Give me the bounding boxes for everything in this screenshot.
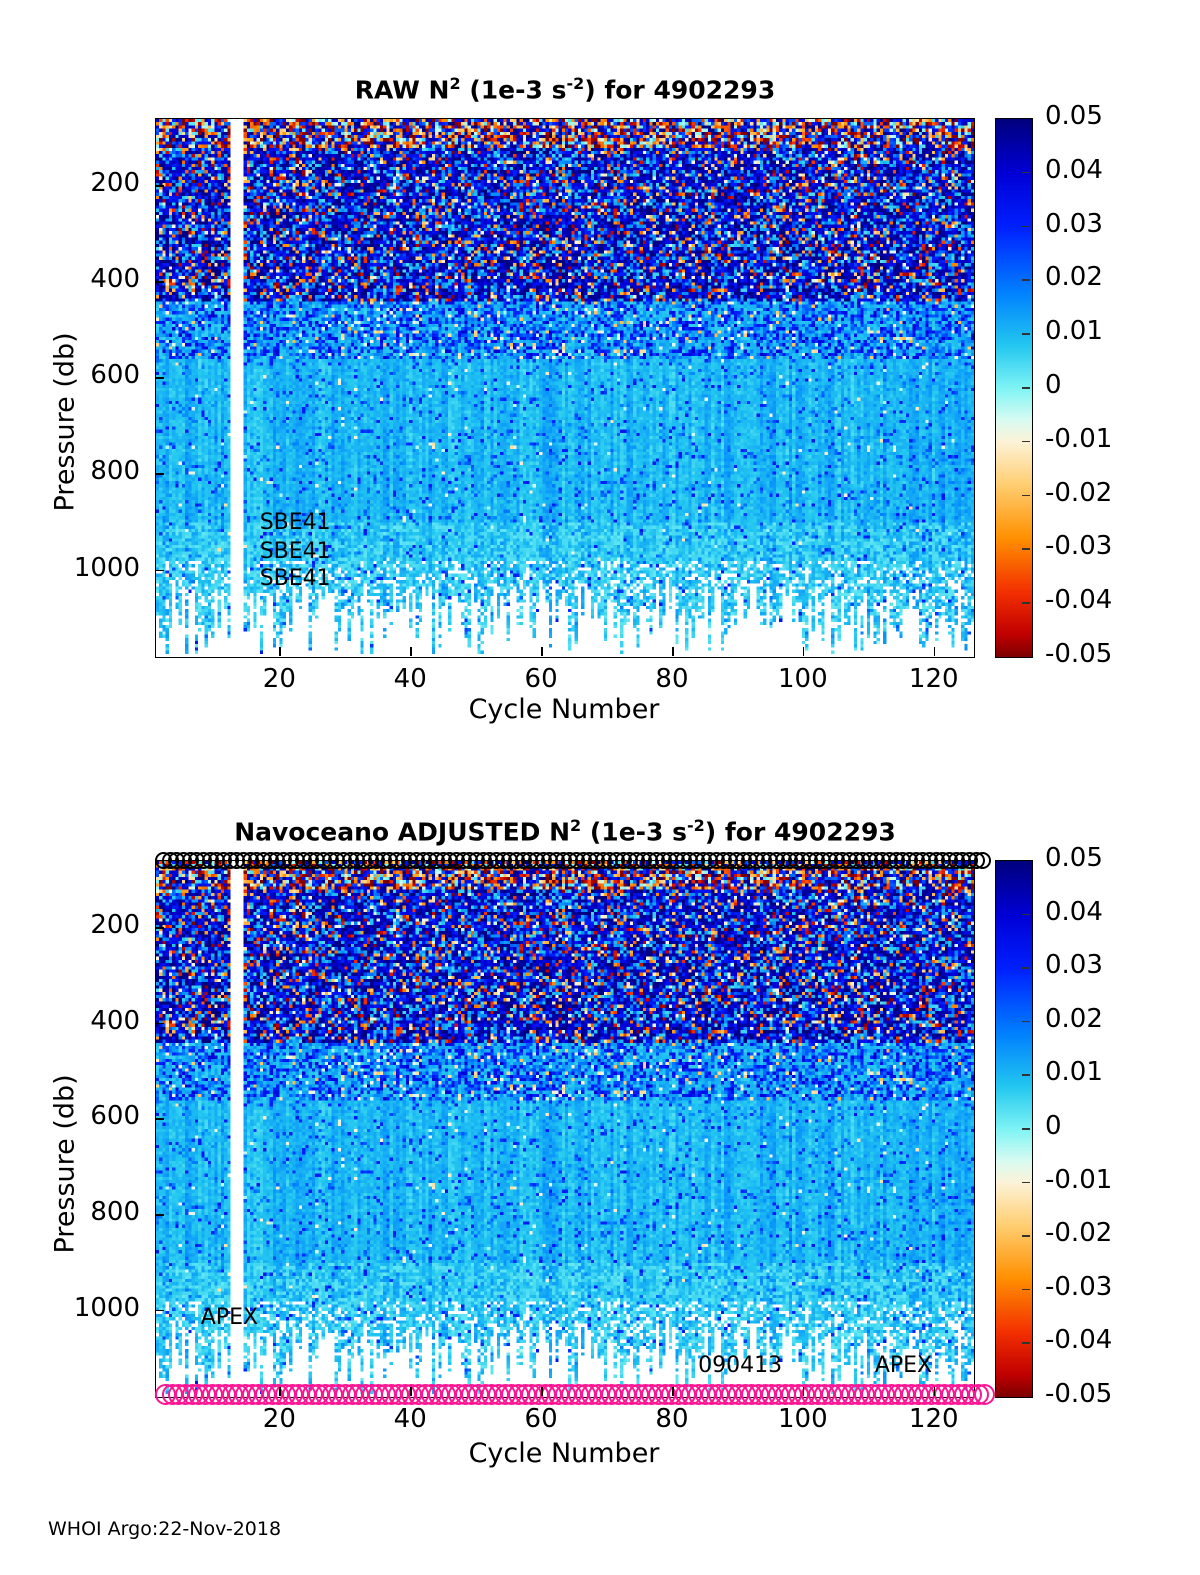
colorbar-tick-mark [1022, 1128, 1030, 1130]
colorbar-tick-label: 0.05 [1045, 101, 1103, 131]
y-tick-label: 800 [20, 456, 140, 486]
plot-annotation: SBE41 [260, 510, 331, 535]
cycle-marker [974, 1384, 995, 1405]
title-suffix-adj: ) for 4902293 [705, 817, 896, 846]
colorbar-tick-mark [1022, 1342, 1030, 1344]
x-tick-mark [934, 1387, 936, 1396]
panel-raw-title: RAW N2 (1e-3 s-2) for 4902293 [155, 74, 975, 104]
x-tick-mark [803, 1387, 805, 1396]
x-tick-label: 100 [753, 664, 853, 694]
colorbar-tick-mark [1022, 602, 1030, 604]
plot-annotation: APEX [201, 1305, 258, 1330]
colorbar-tick-mark [1022, 279, 1030, 281]
colorbar-tick-mark [1022, 914, 1030, 916]
x-tick-mark [934, 647, 936, 656]
colorbar-tick-mark [1022, 548, 1030, 550]
heatmap-image-adjusted [156, 861, 974, 1397]
x-axis-label-raw: Cycle Number [155, 694, 973, 725]
x-axis-label-adjusted: Cycle Number [155, 1438, 973, 1469]
colorbar-tick-mark [1022, 226, 1030, 228]
y-tick-label: 1000 [20, 1293, 140, 1323]
colorbar-tick-label: 0 [1045, 1111, 1062, 1141]
x-tick-mark [672, 1387, 674, 1396]
title-sup2-adj: -2 [687, 816, 705, 835]
y-tick-label: 400 [20, 1006, 140, 1036]
colorbar-tick-mark [1022, 1021, 1030, 1023]
x-tick-label: 120 [884, 664, 984, 694]
colorbar-tick-label: -0.03 [1045, 531, 1112, 561]
colorbar-tick-label: -0.04 [1045, 585, 1112, 615]
x-tick-mark [410, 647, 412, 656]
colorbar-tick-label: -0.04 [1045, 1325, 1112, 1355]
colorbar-tick-label: 0 [1045, 370, 1062, 400]
colorbar-tick-label: -0.03 [1045, 1272, 1112, 1302]
colorbar-tick-label: 0.03 [1045, 950, 1103, 980]
figure-footer: WHOI Argo:22-Nov-2018 [48, 1518, 281, 1540]
colorbar-tick-label: 0.01 [1045, 316, 1103, 346]
x-tick-mark [541, 647, 543, 656]
x-tick-label: 60 [491, 664, 591, 694]
colorbar-tick-label: -0.01 [1045, 424, 1112, 454]
heatmap-axes-adjusted[interactable] [155, 860, 975, 1398]
colorbar-tick-label: 0.04 [1045, 897, 1103, 927]
y-tick-label: 1000 [20, 553, 140, 583]
title-suffix-raw: ) for 4902293 [584, 75, 775, 104]
colorbar-tick-label: 0.05 [1045, 843, 1103, 873]
cycle-marker [974, 852, 991, 869]
colorbar-tick-mark [1022, 172, 1030, 174]
y-tick-mark [155, 1214, 164, 1216]
y-tick-label: 600 [20, 360, 140, 390]
colorbar-tick-label: 0.04 [1045, 155, 1103, 185]
x-tick-label: 40 [360, 664, 460, 694]
x-tick-mark [803, 647, 805, 656]
colorbar-tick-mark [1022, 1289, 1030, 1291]
x-tick-mark [541, 1387, 543, 1396]
y-tick-mark [155, 377, 164, 379]
colorbar-tick-mark [1022, 495, 1030, 497]
y-tick-label: 200 [20, 168, 140, 198]
x-tick-label: 20 [229, 1404, 329, 1434]
x-tick-label: 40 [360, 1404, 460, 1434]
x-tick-label: 20 [229, 664, 329, 694]
plot-annotation: APEX [875, 1353, 932, 1378]
colorbar-tick-mark [1022, 387, 1030, 389]
y-tick-mark [155, 281, 164, 283]
colorbar-tick-label: 0.02 [1045, 1004, 1103, 1034]
y-tick-mark [155, 1023, 164, 1025]
panel-adjusted-title: Navoceano ADJUSTED N2 (1e-3 s-2) for 490… [155, 816, 975, 846]
x-tick-label: 60 [491, 1404, 591, 1434]
colorbar-tick-label: 0.02 [1045, 262, 1103, 292]
colorbar-tick-mark [1022, 1182, 1030, 1184]
title-text-raw: RAW N [355, 75, 450, 104]
colorbar-tick-label: -0.02 [1045, 1218, 1112, 1248]
title-sup-adj: 2 [570, 816, 581, 835]
plot-annotation: SBE41 [260, 566, 331, 591]
top-marker-row-adjusted [155, 852, 981, 870]
y-tick-mark [155, 1118, 164, 1120]
colorbar-tick-label: -0.05 [1045, 639, 1112, 669]
x-tick-label: 120 [884, 1404, 984, 1434]
y-tick-label: 400 [20, 264, 140, 294]
x-tick-label: 80 [622, 664, 722, 694]
colorbar-tick-mark [1022, 441, 1030, 443]
title-text-adj: Navoceano ADJUSTED N [234, 817, 570, 846]
x-tick-label: 80 [622, 1404, 722, 1434]
y-tick-mark [155, 570, 164, 572]
colorbar-tick-mark [1022, 333, 1030, 335]
y-tick-label: 200 [20, 910, 140, 940]
y-tick-mark [155, 927, 164, 929]
x-tick-mark [672, 647, 674, 656]
colorbar-tick-mark [1022, 1074, 1030, 1076]
colorbar-tick-label: -0.05 [1045, 1379, 1112, 1409]
y-tick-mark [155, 473, 164, 475]
x-tick-label: 100 [753, 1404, 853, 1434]
plot-annotation: SBE41 [260, 539, 331, 564]
colorbar-tick-mark [1022, 1235, 1030, 1237]
colorbar-tick-label: 0.01 [1045, 1057, 1103, 1087]
colorbar-tick-label: -0.01 [1045, 1165, 1112, 1195]
y-tick-mark [155, 185, 164, 187]
x-tick-mark [279, 647, 281, 656]
y-tick-mark [155, 1310, 164, 1312]
x-tick-mark [410, 1387, 412, 1396]
title-sup-raw: 2 [449, 74, 460, 93]
title-mid-raw: (1e-3 s [461, 75, 567, 104]
y-tick-label: 600 [20, 1101, 140, 1131]
plot-annotation: 090413 [698, 1353, 782, 1378]
title-mid-adj: (1e-3 s [581, 817, 687, 846]
colorbar-tick-mark [1022, 967, 1030, 969]
title-sup2-raw: -2 [566, 74, 584, 93]
y-tick-label: 800 [20, 1197, 140, 1227]
colorbar-tick-label: -0.02 [1045, 478, 1112, 508]
colorbar-tick-label: 0.03 [1045, 209, 1103, 239]
x-tick-mark [279, 1387, 281, 1396]
